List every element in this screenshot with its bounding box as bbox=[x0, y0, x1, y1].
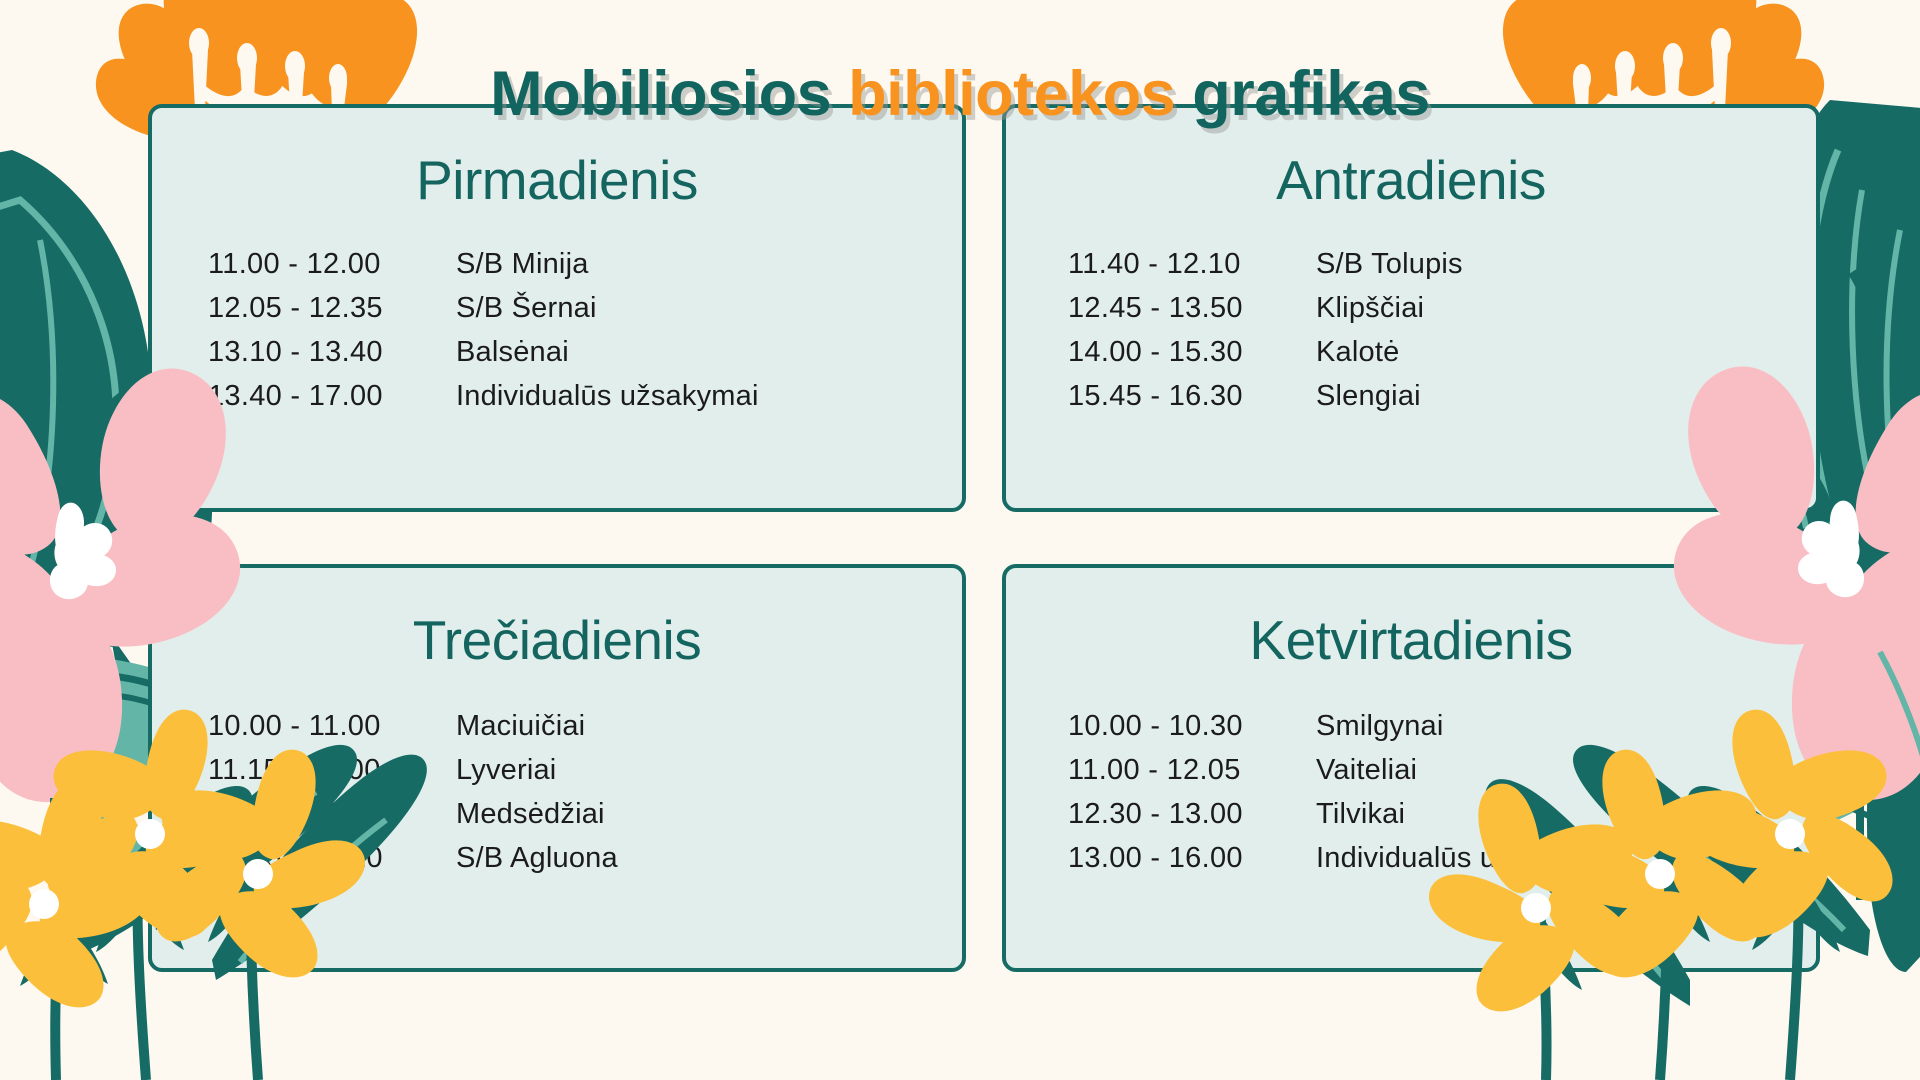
row-time: 11.40 - 12.10 bbox=[1068, 244, 1316, 285]
page-title-part2: bibliotekos bbox=[848, 59, 1175, 129]
page-title-part1: Mobiliosios bbox=[490, 59, 848, 129]
row-time: 12.45 - 13.20 bbox=[208, 838, 456, 879]
row-place: S/B Tolupis bbox=[1316, 244, 1816, 285]
row-place: Vaiteliai bbox=[1316, 750, 1816, 791]
row-time: 10.00 - 11.00 bbox=[208, 706, 456, 747]
row-time: 13.40 - 17.00 bbox=[208, 376, 456, 417]
page-title-part3: grafikas bbox=[1175, 59, 1430, 129]
schedule-rows-treciadienis: 10.00 - 11.00 Maciuičiai 11.15 - 12.00 L… bbox=[152, 706, 962, 880]
card-title-pirmadienis: Pirmadienis bbox=[152, 150, 962, 212]
schedule-card-antradienis: Antradienis 11.40 - 12.10 S/B Tolupis 12… bbox=[1002, 104, 1820, 512]
card-title-antradienis: Antradienis bbox=[1006, 150, 1816, 212]
row-place: S/B Agluona bbox=[456, 838, 962, 879]
row-place: Kalotė bbox=[1316, 332, 1816, 373]
row-place: Balsėnai bbox=[456, 332, 962, 373]
yellow-flower bbox=[0, 780, 151, 1008]
row-time: 10.00 - 10.30 bbox=[1068, 706, 1316, 747]
row-time: 15.45 - 16.30 bbox=[1068, 376, 1316, 417]
card-title-treciadienis: Trečiadienis bbox=[152, 610, 962, 672]
row-time: 12.45 - 13.50 bbox=[1068, 288, 1316, 329]
row-time: 12.15 - 12.30 bbox=[208, 794, 456, 835]
row-place: Individualūs užsakymai bbox=[1316, 838, 1816, 879]
row-time: 11.00 - 12.00 bbox=[208, 244, 456, 285]
schedule-card-pirmadienis: Pirmadienis 11.00 - 12.00 S/B Minija 12.… bbox=[148, 104, 966, 512]
row-time: 12.05 - 12.35 bbox=[208, 288, 456, 329]
row-place: Smilgynai bbox=[1316, 706, 1816, 747]
row-place: Maciuičiai bbox=[456, 706, 962, 747]
row-time: 14.00 - 15.30 bbox=[1068, 332, 1316, 373]
row-place: Tilvikai bbox=[1316, 794, 1816, 835]
poster-canvas: Mobiliosios bibliotekos grafikas Pirmadi… bbox=[0, 0, 1920, 1080]
schedule-grid: Pirmadienis 11.00 - 12.00 S/B Minija 12.… bbox=[148, 104, 1820, 972]
row-time: 11.15 - 12.00 bbox=[208, 750, 456, 791]
schedule-card-treciadienis: Trečiadienis 10.00 - 11.00 Maciuičiai 11… bbox=[148, 564, 966, 972]
pink-flower-left bbox=[0, 559, 108, 717]
schedule-card-ketvirtadienis: Ketvirtadienis 10.00 - 10.30 Smilgynai 1… bbox=[1002, 564, 1820, 972]
schedule-rows-ketvirtadienis: 10.00 - 10.30 Smilgynai 11.00 - 12.05 Va… bbox=[1006, 706, 1816, 880]
row-time: 11.00 - 12.05 bbox=[1068, 750, 1316, 791]
card-title-ketvirtadienis: Ketvirtadienis bbox=[1006, 610, 1816, 672]
row-time: 13.00 - 16.00 bbox=[1068, 838, 1316, 879]
row-place: Slengiai bbox=[1316, 376, 1816, 417]
row-place: S/B Minija bbox=[456, 244, 962, 285]
row-place: Lyveriai bbox=[456, 750, 962, 791]
row-time: 13.10 - 13.40 bbox=[208, 332, 456, 373]
row-place: S/B Šernai bbox=[456, 288, 962, 329]
page-title: Mobiliosios bibliotekos grafikas bbox=[0, 58, 1920, 130]
row-place: Individualūs užsakymai bbox=[456, 376, 962, 417]
schedule-rows-antradienis: 11.40 - 12.10 S/B Tolupis 12.45 - 13.50 … bbox=[1006, 244, 1816, 418]
schedule-rows-pirmadienis: 11.00 - 12.00 S/B Minija 12.05 - 12.35 S… bbox=[152, 244, 962, 418]
row-place: Klipščiai bbox=[1316, 288, 1816, 329]
row-place: Medsėdžiai bbox=[456, 794, 962, 835]
row-time: 12.30 - 13.00 bbox=[1068, 794, 1316, 835]
